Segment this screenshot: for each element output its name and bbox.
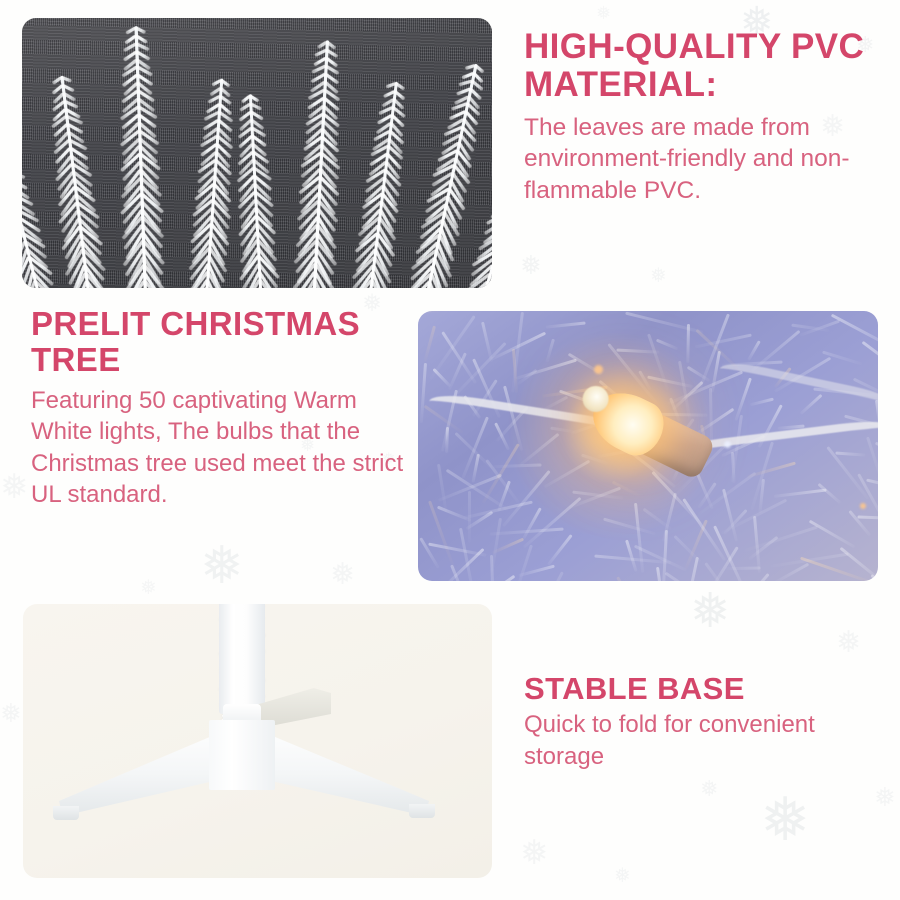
feature-heading-stable-base: STABLE BASE (524, 672, 889, 705)
tinsel-strand (750, 398, 774, 407)
snowflake-icon: ❅ (140, 578, 157, 598)
branch-needle (22, 169, 25, 179)
tinsel-strand (420, 311, 442, 313)
tinsel-strand (428, 543, 486, 557)
snowflake-icon: ❅ (690, 588, 730, 636)
snowflake-icon: ❅ (596, 4, 611, 22)
tinsel-strand (616, 576, 645, 581)
tinsel-strand (502, 470, 551, 527)
tinsel-strand (774, 489, 827, 498)
feature-body-pvc-material: The leaves are made from environment-fri… (524, 112, 884, 208)
photo-folding-tree-stand (23, 604, 492, 878)
light-spark (860, 503, 866, 509)
snowflake-icon: ❅ (874, 784, 896, 810)
snowflake-icon: ❅ (0, 470, 29, 504)
snowflake-icon: ❅ (520, 252, 542, 278)
pvc-branch (100, 25, 181, 288)
light-spark (724, 441, 731, 448)
tinsel-strand (445, 427, 449, 453)
snowflake-icon: ❅ (836, 628, 861, 658)
tinsel-strand (547, 534, 573, 566)
photo-white-pvc-branches: Close-up of white PVC Christmas tree bra… (22, 18, 492, 288)
tinsel-strand (747, 340, 761, 361)
feature-body-prelit-tree: Featuring 50 captivating Warm White ligh… (31, 385, 411, 510)
tinsel-strand (519, 433, 559, 466)
tinsel-strand (770, 553, 848, 568)
tinsel-strand (437, 506, 472, 522)
tinsel-strand (809, 520, 856, 549)
feature-block-pvc-material: HIGH-QUALITY PVC MATERIAL: The leaves ar… (524, 28, 884, 207)
tinsel-strand (725, 567, 760, 571)
feature-body-stable-base: Quick to fold for convenient storage (524, 709, 889, 771)
feature-block-stable-base: STABLE BASE Quick to fold for convenient… (524, 672, 889, 772)
infographic-canvas: ❅ ❅ ❅ ❅ ❅ ❅ ❅ ❅ ❅ ❅ ❅ ❅ ❅ ❅ ❅ ❅ ❅ ❅ ❅ ❅ … (0, 0, 900, 900)
snowflake-icon: ❅ (330, 560, 355, 590)
tinsel-strand (647, 376, 693, 388)
branch-needle (474, 64, 484, 73)
tinsel-strand (848, 510, 871, 536)
tinsel-strand (818, 483, 842, 504)
snowflake-icon: ❅ (0, 700, 22, 726)
tinsel-strand (493, 464, 541, 469)
tinsel-strand (857, 516, 878, 521)
snowflake-icon: ❅ (700, 778, 718, 800)
photo-warm-white-bulb (418, 311, 878, 581)
tinsel-strand (656, 339, 678, 351)
light-spark (594, 365, 603, 374)
stand-foot-left (53, 806, 79, 820)
snowflake-icon: ❅ (650, 266, 667, 286)
snowflake-icon: ❅ (760, 790, 810, 850)
tinsel-strand (603, 518, 656, 536)
feature-block-prelit-tree: PRELIT CHRISTMAS TREE Featuring 50 capti… (31, 306, 411, 510)
tinsel-strand (835, 452, 865, 457)
snowflake-icon: ❅ (520, 836, 549, 870)
tinsel-strand (625, 312, 703, 334)
feature-heading-prelit-tree: PRELIT CHRISTMAS TREE (31, 306, 411, 377)
tree-pole (219, 604, 265, 714)
tinsel-strand (512, 545, 533, 581)
tinsel-strand (481, 322, 493, 363)
tinsel-strand (544, 460, 591, 489)
tinsel-strand (533, 571, 563, 581)
snowflake-icon: ❅ (614, 866, 631, 886)
tinsel-strand (420, 363, 427, 423)
tinsel-strand (634, 503, 644, 573)
branch-needle (491, 202, 492, 218)
snowflake-icon: ❅ (200, 540, 244, 592)
stand-foot-right (409, 804, 435, 818)
tinsel-strand (423, 326, 435, 363)
stand-hub (209, 720, 275, 790)
tinsel-strand (545, 339, 554, 363)
tinsel-strand (747, 462, 796, 479)
feature-heading-pvc-material: HIGH-QUALITY PVC MATERIAL: (524, 28, 884, 104)
tinsel-strand (432, 368, 451, 387)
tinsel-strand (546, 322, 586, 329)
